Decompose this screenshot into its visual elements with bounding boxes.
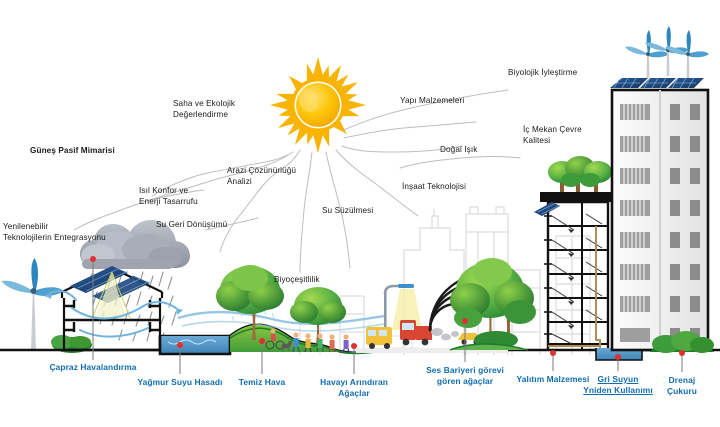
label-saha-ve-ekolojik-degerlendirme: Saha ve Ekolojik Değerlendirme <box>173 99 235 120</box>
solar-panel-icon-tower <box>610 78 704 88</box>
label-ic-mekan-cevre-kalitesi: İç Mekan Çevre Kalitesi <box>523 125 582 146</box>
callout-havayi-arindiran-agaclar: Havayı Arındıran Ağaçlar <box>320 377 388 398</box>
callout-drenaj-cukuru: Drenaj Çukuru <box>663 375 701 396</box>
label-biyocesitlilik: Biyoçeşitlilik <box>274 275 320 286</box>
callout-ses-bariyeri-goren-agaclar: Ses Bariyeri görevi gören ağaçlar <box>426 365 504 386</box>
label-arazi-cozunurlugu-analizi: Arazi Çözünürlüğü Analizi <box>227 166 296 187</box>
rooftop-garden-icon <box>548 156 612 192</box>
wind-turbine-icon <box>2 258 64 350</box>
water-stream <box>178 312 384 331</box>
label-su-suzulmesi: Su Süzülmesi <box>322 206 373 217</box>
label-su-geri-donusumu: Su Geri Dönüşümü <box>156 220 227 231</box>
apartment-tower <box>612 90 708 350</box>
label-biyolojik-iylestirme: Biyolojik İyleştirme <box>508 68 577 79</box>
label-insaat-teknolojisi: İnşaat Teknolojisi <box>402 182 466 193</box>
label-dogal-isik: Doğal Işık <box>440 145 477 156</box>
city-skyline-silhouette <box>300 207 590 355</box>
label-gunes-pasif-mimarisi: Güneş Pasif Mimarisi <box>30 146 115 157</box>
sun-icon <box>270 57 366 153</box>
callout-yagmur-suyu-hasadi: Yağmur Suyu Hasadı <box>137 377 222 388</box>
label-yenilenebilir-teknolojilerin-entegrasyonu: Yenilenebilir Teknolojilerin Entegrasyon… <box>3 222 106 243</box>
grass-mound <box>450 344 528 350</box>
infographic-canvas: Güneş Pasif MimarisiSaha ve Ekolojik Değ… <box>0 0 720 427</box>
callout-gri-suyun-yeniden-kullanimi: Gri Suyun Yniden Kullanımı <box>583 374 653 395</box>
bus-icon <box>366 327 392 349</box>
green-building-cross-section <box>534 156 620 352</box>
callout-capraz-havalandirma: Çapraz Havalandırma <box>49 362 136 373</box>
rainwater-harvest-tank <box>160 336 230 354</box>
callout-yalitim-malzemesi: Yalıtım Malzemesi <box>517 374 590 385</box>
label-isil-konfor-ve-enerji-tasarrufu: Isıl Konfor ve Enerji Tasarrufu <box>139 186 198 207</box>
wind-turbine-icon-tower <box>625 26 709 78</box>
callout-temiz-hava: Temiz Hava <box>239 377 285 388</box>
label-yapi-malzemeleri: Yapı Malzemeleri <box>400 96 464 107</box>
